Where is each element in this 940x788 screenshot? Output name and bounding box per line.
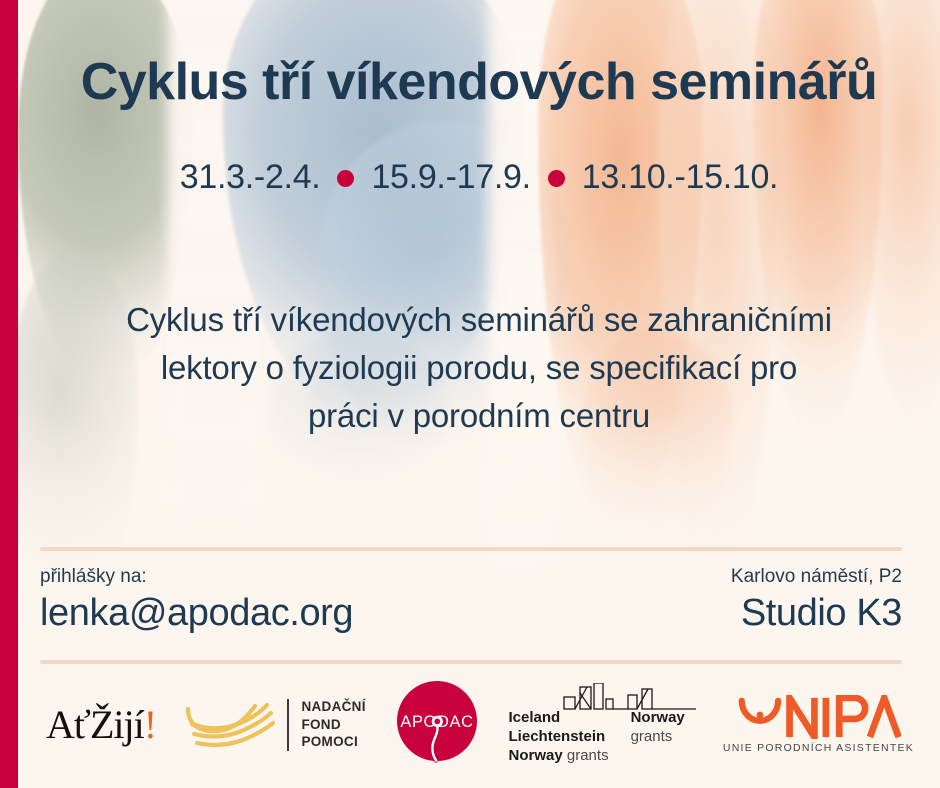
unipa-subtitle: UNIE PORODNÍCH ASISTENTEK <box>723 742 914 754</box>
nfp-line-1: NADAČNÍ <box>301 698 365 716</box>
date-item-3: 13.10.-15.10. <box>582 158 778 197</box>
contact-label: přihlášky na: <box>40 565 353 589</box>
subtitle-line-3: práci v porodním centru <box>40 392 918 440</box>
venue-block: Karlovo náměstí, P2 Studio K3 <box>731 565 902 636</box>
logo-eea-norway-grants[interactable]: Iceland Liechtenstein Norway grants Norw… <box>509 683 696 766</box>
unipa-letter-a <box>870 698 899 737</box>
unipa-wordmark-icon <box>736 695 901 739</box>
grants-col-2: Norway grants <box>631 709 685 766</box>
logo-atzji[interactable]: AťŽijí! <box>46 705 156 745</box>
poster-canvas: Cyklus tří víkendových seminářů 31.3.-2.… <box>0 0 940 788</box>
unipa-u-dot-icon <box>757 712 764 719</box>
subtitle-line-2: lektory o fyziologii porodu, se specifik… <box>40 344 918 392</box>
page-title: Cyklus tří víkendových seminářů <box>18 55 940 110</box>
nfp-arcs-icon <box>183 698 275 752</box>
poster-content: Cyklus tří víkendových seminářů 31.3.-2.… <box>0 0 940 788</box>
logo-apodac[interactable]: APODAC <box>393 681 481 769</box>
contact-email[interactable]: lenka@apodac.org <box>40 591 353 636</box>
grants-iceland: Iceland <box>509 709 609 728</box>
grants-col-1: Iceland Liechtenstein Norway grants <box>509 709 609 766</box>
atzji-exclamation-icon: ! <box>144 702 156 747</box>
subtitle-paragraph: Cyklus tří víkendových seminářů se zahra… <box>40 296 918 440</box>
divider-top <box>40 547 902 551</box>
contact-block: přihlášky na: lenka@apodac.org <box>40 565 353 636</box>
left-accent-bar <box>0 0 18 788</box>
venue-name: Studio K3 <box>731 591 902 636</box>
date-item-1: 31.3.-2.4. <box>180 158 321 197</box>
unipa-letter-n <box>790 698 815 737</box>
nfp-line-3: POMOCI <box>301 733 365 751</box>
nfp-divider <box>287 699 289 751</box>
apodac-o-dot-icon <box>435 718 441 724</box>
divider-bottom <box>40 660 902 664</box>
date-item-2: 15.9.-17.9. <box>371 158 530 197</box>
subtitle-line-1: Cyklus tří víkendových seminářů se zahra… <box>40 296 918 344</box>
grants-text-rows: Iceland Liechtenstein Norway grants Norw… <box>509 709 696 766</box>
grants-liechtenstein: Liechtenstein <box>509 728 609 747</box>
grants-norway-bold: Norway <box>509 747 563 764</box>
nfp-line-2: FOND <box>301 716 365 734</box>
sponsor-logo-strip: AťŽijí! NADAČNÍ FOND POMOCI <box>18 672 940 777</box>
bullet-dot-icon <box>548 170 565 187</box>
logo-nadacni-fond-pomoci[interactable]: NADAČNÍ FOND POMOCI <box>183 698 365 752</box>
grants2-norway: Norway <box>631 709 685 728</box>
unipa-letter-p <box>839 698 865 737</box>
grants-norway-grants: Norway grants <box>509 747 609 766</box>
contact-venue-band: přihlášky na: lenka@apodac.org Karlovo n… <box>40 565 902 651</box>
atzji-wordmark: AťŽijí <box>46 702 144 747</box>
venue-address: Karlovo náměstí, P2 <box>731 565 902 589</box>
dates-row: 31.3.-2.4. 15.9.-17.9. 13.10.-15.10. <box>18 158 940 197</box>
logo-unipa[interactable]: UNIE PORODNÍCH ASISTENTEK <box>723 695 914 754</box>
nfp-wordmark: NADAČNÍ FOND POMOCI <box>301 698 365 751</box>
bullet-dot-icon <box>337 170 354 187</box>
grants2-grants: grants <box>631 728 685 747</box>
grants-grants-light: grants <box>567 747 609 764</box>
